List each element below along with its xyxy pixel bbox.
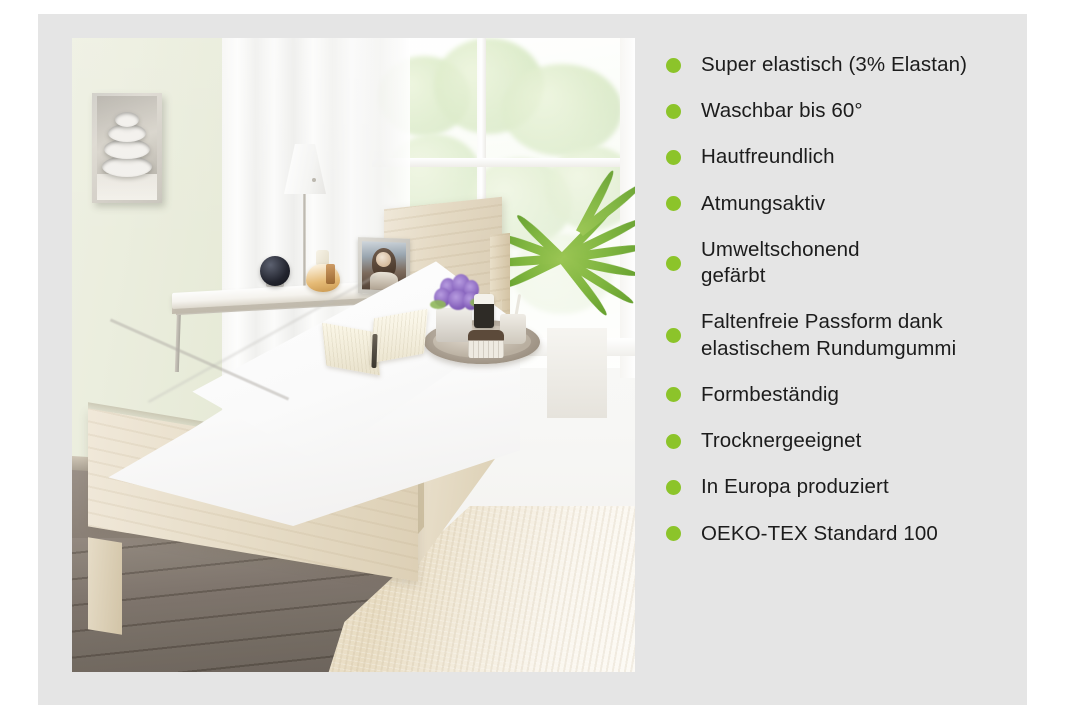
zen-stone-art xyxy=(92,93,162,203)
product-photo xyxy=(72,38,635,672)
feature-label: Waschbar bis 60° xyxy=(701,98,863,124)
feature-label: Umweltschonendgefärbt xyxy=(701,237,860,289)
feature-item: Atmungsaktiv xyxy=(666,191,1006,217)
alarm-clock xyxy=(260,256,290,286)
feature-label: OEKO-TEX Standard 100 xyxy=(701,521,938,547)
feature-list: Super elastisch (3% Elastan) Waschbar bi… xyxy=(666,52,1006,672)
perfume-label xyxy=(326,264,335,284)
bullet-icon xyxy=(666,328,681,343)
feature-item: Formbeständig xyxy=(666,382,1006,408)
feature-panel: Super elastisch (3% Elastan) Waschbar bi… xyxy=(38,14,1027,705)
bullet-icon xyxy=(666,434,681,449)
feature-label: Atmungsaktiv xyxy=(701,191,825,217)
feature-item: OEKO-TEX Standard 100 xyxy=(666,521,1006,547)
bullet-icon xyxy=(666,196,681,211)
feature-item: Hautfreundlich xyxy=(666,144,1006,170)
feature-item: Trocknergeeignet xyxy=(666,428,1006,454)
feature-item: Umweltschonendgefärbt xyxy=(666,237,1006,289)
bullet-icon xyxy=(666,58,681,73)
bullet-icon xyxy=(666,150,681,165)
feature-label: Trocknergeeignet xyxy=(701,428,861,454)
feature-item: In Europa produziert xyxy=(666,474,1006,500)
feature-label: In Europa produziert xyxy=(701,474,889,500)
bullet-icon xyxy=(666,526,681,541)
feature-label: Hautfreundlich xyxy=(701,144,835,170)
bullet-icon xyxy=(666,256,681,271)
bullet-icon xyxy=(666,104,681,119)
feature-label: Formbeständig xyxy=(701,382,839,408)
feature-label: Super elastisch (3% Elastan) xyxy=(701,52,967,78)
bullet-icon xyxy=(666,480,681,495)
bed-leg-left xyxy=(88,537,122,634)
muffin xyxy=(468,330,504,358)
lamp-switch xyxy=(312,178,316,182)
feature-item: Faltenfreie Passform dankelastischem Run… xyxy=(666,309,1006,361)
feature-label: Faltenfreie Passform dankelastischem Run… xyxy=(701,309,956,361)
feature-item: Waschbar bis 60° xyxy=(666,98,1006,124)
feature-item: Super elastisch (3% Elastan) xyxy=(666,52,1006,78)
bottle xyxy=(474,294,494,328)
bullet-icon xyxy=(666,387,681,402)
